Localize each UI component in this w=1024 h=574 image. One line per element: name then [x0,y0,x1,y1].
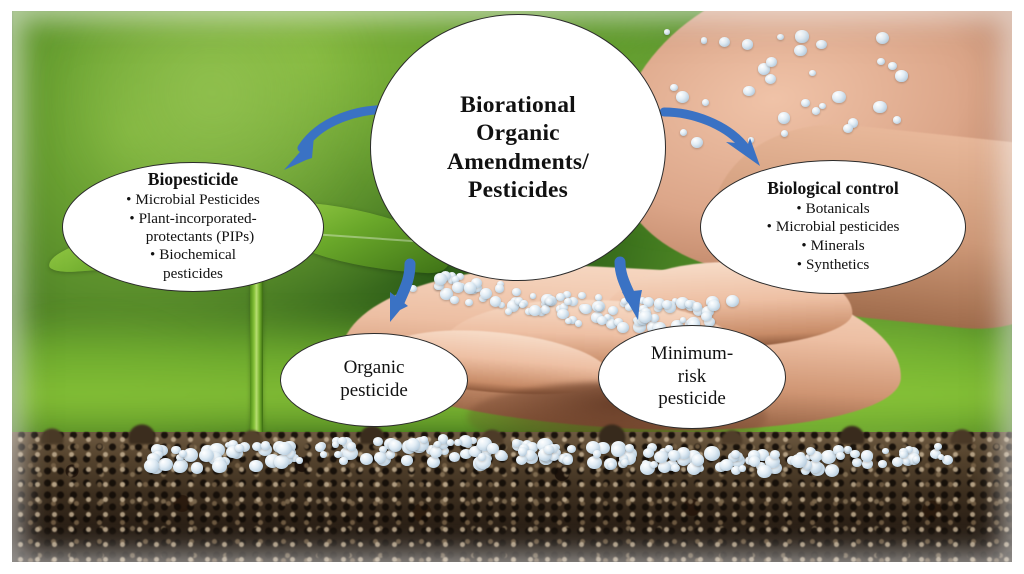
fertilizer-granule [449,452,460,462]
organic-pesticide-line-2: pesticide [340,380,408,403]
fertilizer-granule [565,318,571,324]
minimum-risk-line-1: Minimum- [651,343,733,366]
fertilizer-granule [650,314,658,322]
organic-pesticide-line-1: Organic [344,357,405,380]
fertilizer-granule [639,311,652,323]
biological-control-list: •Botanicals •Microbial pesticides •Miner… [767,200,900,274]
fertilizer-granule [852,458,862,467]
fertilizer-granule [888,62,897,70]
center-node-line-3: Amendments/ [447,148,589,176]
bullet-icon: • [796,201,805,217]
fertilizer-granule [878,460,887,468]
biological-control-heading: Biological control [767,178,898,199]
fertilizer-granule [850,450,859,458]
fertilizer-granule [578,292,586,299]
fertilizer-granule [809,70,816,76]
fertilizer-granule [544,445,554,454]
fertilizer-granule [518,447,527,456]
fertilizer-granule [902,458,910,465]
list-item: •Plant-incorporated- [126,210,260,229]
fertilizer-granule [276,442,291,456]
fertilizer-granule [708,300,720,311]
fertilizer-granule [490,296,501,307]
fertilizer-granule [812,107,820,115]
fertilizer-granule [575,320,582,327]
fertilizer-granule [516,455,527,465]
fertilizer-granule [465,299,473,306]
list-item: •Minerals [767,237,900,256]
list-item: •Microbial pesticides [767,218,900,237]
fertilizer-granule [685,300,693,308]
fertilizer-granule [434,441,441,447]
node-biopesticide[interactable]: Biopesticide •Microbial Pesticides •Plan… [62,162,324,292]
minimum-risk-line-3: pesticide [658,388,726,411]
fertilizer-granule [530,293,536,299]
node-minimum-risk-pesticide[interactable]: Minimum- risk pesticide [598,325,786,429]
fertilizer-granule [173,461,186,473]
center-node-biorational[interactable]: Biorational Organic Amendments/ Pesticid… [370,14,666,281]
fertilizer-granule [360,453,373,465]
fertilizer-granule [420,436,428,443]
fertilizer-granule [795,30,808,42]
figure-canvas: Biorational Organic Amendments/ Pesticid… [0,0,1024,574]
list-item: •Synthetics [767,256,900,275]
fertilizer-granule [595,304,603,312]
fertilizer-granule [743,86,755,97]
list-item-label: pesticides [163,265,223,282]
fertilizer-granule [934,443,941,450]
fertilizer-granule [617,322,629,333]
fertilizer-granule [650,461,658,468]
list-item-label: Microbial pesticides [776,218,900,235]
node-organic-pesticide[interactable]: Organic pesticide [280,333,468,427]
fertilizer-granule [643,448,654,458]
list-item: •Biochemical [126,246,260,265]
fertilizer-granule [249,460,263,473]
fertilizer-granule [338,437,346,445]
fertilizer-granule [452,282,464,293]
fertilizer-granule [861,450,873,461]
fertilizer-granule [680,129,687,135]
bullet-icon: • [767,219,776,235]
biopesticide-list: •Microbial Pesticides •Plant-incorporate… [126,191,260,282]
biopesticide-heading: Biopesticide [148,169,238,190]
list-item: •Botanicals [767,200,900,219]
bullet-icon: • [797,257,806,273]
fertilizer-granule [668,450,680,461]
list-item-continuation: pesticides [126,265,260,283]
fertilizer-granule [777,34,784,40]
fertilizer-granule [654,451,667,463]
fertilizer-granule [401,455,413,466]
fertilizer-granule [757,465,772,478]
fertilizer-granule [158,458,172,471]
fertilizer-granule [794,45,806,56]
fertilizer-granule [580,304,591,315]
fertilizer-granule [742,39,753,49]
list-item-continuation: protectants (PIPs) [126,228,260,246]
list-item: •Microbial Pesticides [126,191,260,210]
fertilizer-granule [597,316,607,325]
fertilizer-granule [406,438,420,451]
fertilizer-granule [373,437,383,446]
fertilizer-granule [519,302,525,308]
fertilizer-granule [505,308,512,315]
list-item-label: Synthetics [806,256,869,273]
fertilizer-granule [701,37,708,43]
fertilizer-granule [676,91,689,103]
minimum-risk-line-2: risk [678,366,707,389]
fertilizer-granule [144,459,159,473]
fertilizer-granule [895,70,907,81]
node-biological-control[interactable]: Biological control •Botanicals •Microbia… [700,160,966,294]
list-item-label: Biochemical [159,246,236,263]
fertilizer-granule [464,282,476,293]
fertilizer-granule [495,284,504,292]
bullet-icon: • [129,211,138,227]
list-item-label: Microbial Pesticides [135,191,259,208]
list-item-label: Minerals [811,237,865,254]
fertilizer-granule [434,273,446,284]
list-item-label: protectants (PIPs) [126,228,260,246]
fertilizer-granule [748,137,754,143]
fertilizer-granule [608,462,615,469]
fertilizer-granule [791,454,807,468]
fertilizer-granule [882,448,888,454]
fertilizer-granule [832,91,846,104]
fertilizer-granule [701,312,712,322]
fertilizer-granule [816,40,827,50]
fertilizer-granule [873,101,886,113]
fertilizer-granule [212,460,227,473]
center-node-line-2: Organic [476,119,560,147]
list-item-label: Plant-incorporated- [139,210,257,227]
fertilizer-granule [235,444,243,451]
bullet-icon: • [150,247,159,263]
fertilizer-granule [731,450,740,458]
list-item-label: Botanicals [806,200,870,217]
fertilizer-granule [749,456,760,466]
center-node-line-4: Pesticides [468,176,568,204]
fertilizer-granule [347,442,356,450]
fertilizer-granule [179,450,186,457]
fertilizer-granule [478,453,487,461]
fertilizer-granule [339,457,348,465]
fertilizer-granule [480,288,492,299]
fertilizer-granule [719,37,730,47]
center-node-line-1: Biorational [460,91,576,119]
fertilizer-granule [261,441,270,449]
fertilizer-granule [704,446,720,460]
fertilizer-granule [938,454,944,460]
fertilizer-granule [766,57,777,67]
fertilizer-granule [621,459,629,466]
fertilizer-granule [770,450,780,459]
fertilizer-granule [781,130,788,137]
bullet-icon: • [801,238,810,254]
fertilizer-granule [778,112,790,123]
fertilizer-granule [191,462,204,473]
fertilizer-granule [430,447,442,458]
fertilizer-granule [593,450,601,457]
fertilizer-granule [692,454,704,465]
fertilizer-granule [913,456,921,463]
